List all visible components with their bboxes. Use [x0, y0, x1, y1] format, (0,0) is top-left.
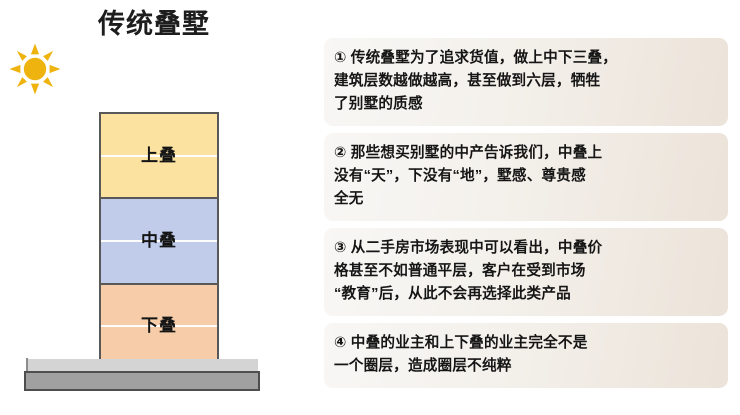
page-title: 传统叠墅 [98, 6, 210, 42]
sun-icon [6, 40, 64, 98]
note-text-3: ③ 从二手房市场表现中可以看出，中叠价 格甚至不如普通平层，客户在受到市场 “教… [334, 237, 716, 306]
floor-label-top: 上叠 [141, 146, 177, 166]
ground-left-edge [26, 358, 28, 372]
note-text-2: ② 那些想买别墅的中产告诉我们，中叠上 没有“天”，下没有“地”，墅感、尊贵感 … [334, 142, 716, 211]
ground-base-bar [24, 371, 260, 391]
note-card-2: ② 那些想买别墅的中产告诉我们，中叠上 没有“天”，下没有“地”，墅感、尊贵感 … [324, 133, 728, 221]
floor-label-bottom: 下叠 [141, 316, 177, 336]
floor-label-middle: 中叠 [141, 231, 177, 251]
note-text-1: ① 传统叠墅为了追求货值，做上中下三叠， 建筑层数越做越高，甚至做到六层，牺牲 … [334, 47, 716, 116]
building-diagram: 上叠 中叠 下叠 [99, 112, 219, 370]
note-card-1: ① 传统叠墅为了追求货值，做上中下三叠， 建筑层数越做越高，甚至做到六层，牺牲 … [324, 38, 728, 126]
building-floor-bottom: 下叠 [101, 283, 217, 368]
building-floor-top: 上叠 [101, 114, 217, 197]
slide-canvas: 传统叠墅 上叠 中叠 下叠 [0, 0, 740, 415]
notes-list: ① 传统叠墅为了追求货值，做上中下三叠， 建筑层数越做越高，甚至做到六层，牺牲 … [324, 38, 728, 395]
note-card-4: ④ 中叠的业主和上下叠的业主完全不是 一个圈层，造成圈层不纯粹 [324, 323, 728, 388]
note-card-3: ③ 从二手房市场表现中可以看出，中叠价 格甚至不如普通平层，客户在受到市场 “教… [324, 228, 728, 316]
note-text-4: ④ 中叠的业主和上下叠的业主完全不是 一个圈层，造成圈层不纯粹 [334, 332, 716, 378]
building-floor-middle: 中叠 [101, 197, 217, 282]
